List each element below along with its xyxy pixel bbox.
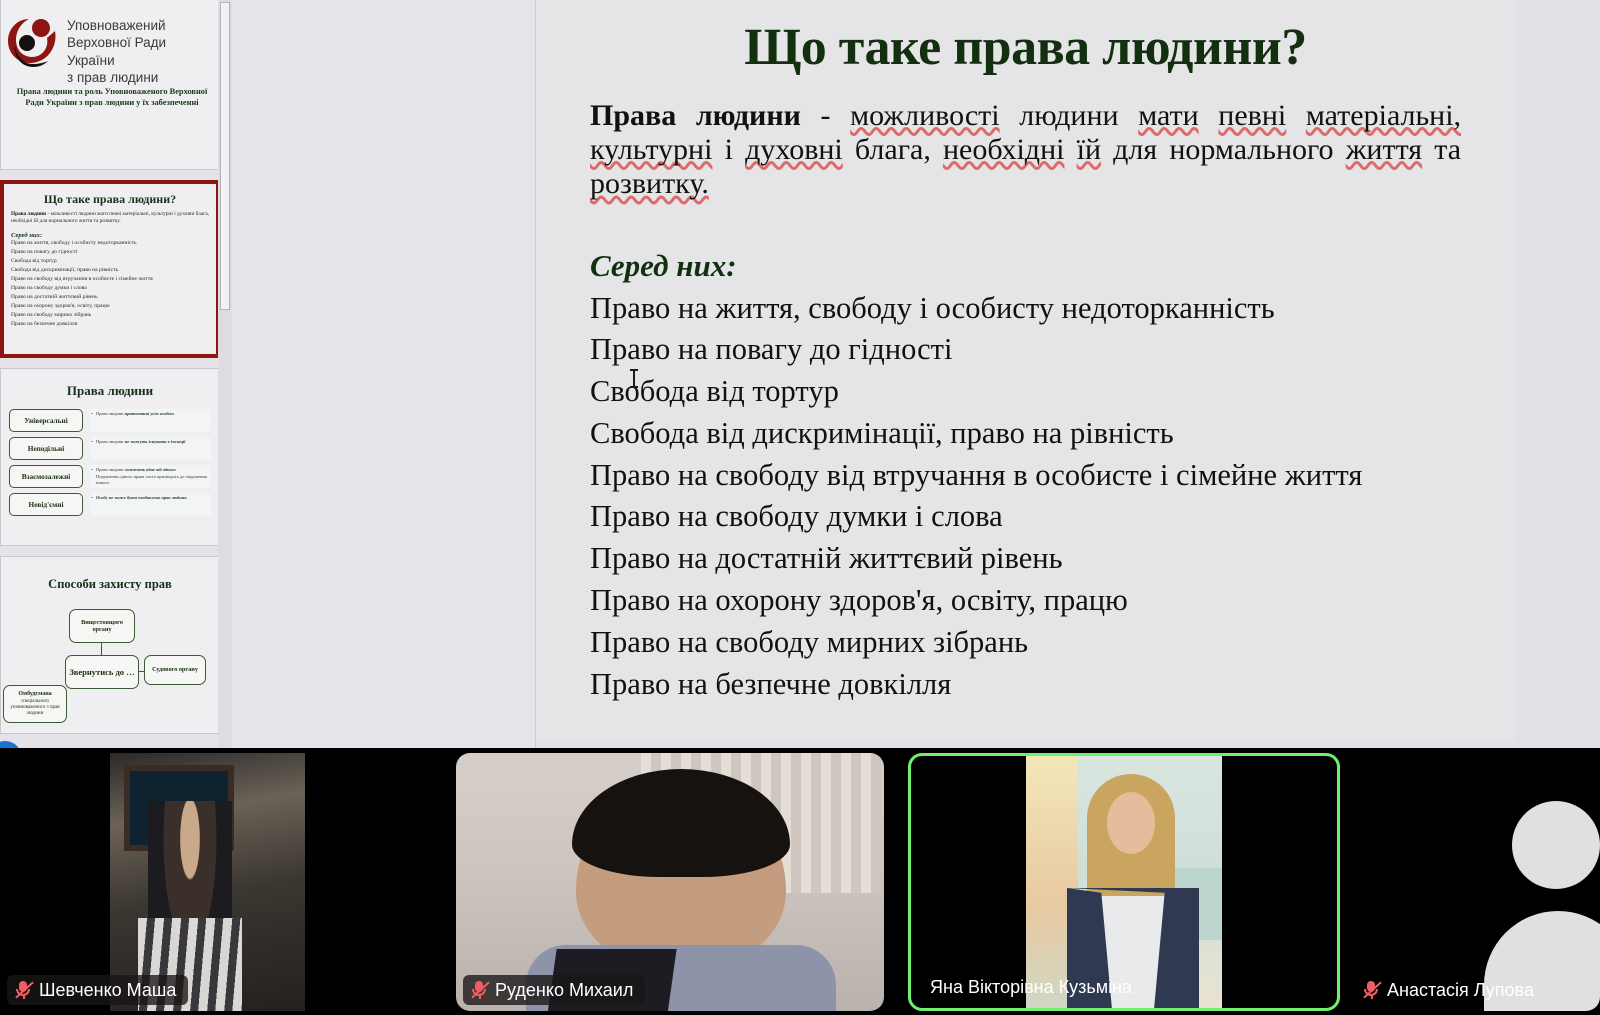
row-note: Особу не може бути позбавлено прав людин…: [90, 493, 211, 516]
participant-name-badge: Яна Вікторівна Кузьміна: [918, 972, 1144, 1002]
chip-label: Універсальні: [9, 409, 83, 432]
paragraph-word: певні: [1218, 99, 1286, 132]
list-item: Право на безпечне довкілля: [11, 320, 209, 329]
paragraph-word: життя: [1346, 133, 1422, 166]
participant-video: [0, 753, 452, 1011]
thumbnail-2-list: Право на життя, свободу і особисту недот…: [11, 239, 209, 329]
thumbnail-scrollbar-track[interactable]: [218, 0, 232, 748]
participant-name: Руденко Михаил: [495, 980, 633, 1001]
paragraph-dash: -: [821, 99, 831, 132]
thumbnail-2-paragraph-lead: Права людини: [11, 211, 46, 217]
participant-name: Анастасія Лупова: [1387, 980, 1534, 1001]
microphone-muted-icon: [471, 980, 488, 1000]
participant-tile[interactable]: Анастасія Лупова: [1344, 753, 1600, 1011]
list-item: Право на свободу мирних зібрань: [11, 311, 209, 320]
video-participant-strip: Шевченко Маша Руденко Михаил Ян: [0, 748, 1600, 1015]
list-item: Право на свободу думки і слова: [11, 284, 209, 293]
paragraph-word: блага,: [855, 133, 931, 166]
microphone-muted-icon: [15, 980, 32, 1000]
list-item: Право на охорону здоров'я, освіту, працю: [11, 302, 209, 311]
thumbnail-1-logo-text: Уповноважений Верховної Ради України з п…: [67, 17, 217, 86]
participant-tile[interactable]: Шевченко Маша: [0, 753, 452, 1011]
list-item: Свобода від дискримінації, право на рівн…: [590, 413, 1515, 455]
participant-video: [911, 756, 1337, 1008]
list-item: Право на свободу від втручання в особист…: [590, 455, 1515, 497]
participant-avatar: [1344, 753, 1600, 1011]
thumbnail-1-subtitle: Права людини та роль Уповноваженого Верх…: [13, 86, 211, 109]
list-item: Свобода від тортур: [11, 257, 209, 266]
participant-name: Шевченко Маша: [39, 980, 176, 1001]
paragraph-word: можливості: [850, 99, 999, 132]
slide-thumbnail-1[interactable]: Уповноважений Верховної Ради України з п…: [0, 0, 220, 170]
participant-tile[interactable]: Руденко Михаил: [456, 753, 884, 1011]
participant-name-badge: Руденко Михаил: [463, 975, 645, 1005]
flow-node-center: Звернутись до …: [65, 655, 139, 689]
paragraph-word: мати: [1138, 99, 1198, 132]
participant-name-badge: Шевченко Маша: [7, 975, 188, 1005]
table-row: Неподільні Права людини не можуть існува…: [9, 437, 211, 460]
paragraph-word: людини: [1019, 99, 1118, 132]
presentation-area: Уповноважений Верховної Ради України з п…: [0, 0, 1600, 748]
row-note: Права людини залежать одне від одногоПор…: [90, 465, 211, 488]
paragraph-word: для: [1113, 133, 1157, 166]
list-item: Право на повагу до гідності: [11, 248, 209, 257]
flow-node-top: Вищестоящого органу: [69, 609, 135, 643]
ombudsman-logo-icon: [7, 11, 61, 73]
slide-thumbnail-3[interactable]: Права людини Універсальні Права людини п…: [0, 368, 220, 546]
text-cursor-icon: [633, 369, 635, 388]
paragraph-word: нормального: [1169, 133, 1333, 166]
screen-root: Уповноважений Верховної Ради України з п…: [0, 0, 1600, 1015]
list-item: Право на свободу думки і слова: [590, 496, 1515, 538]
list-item: Право на свободу від втручання в особист…: [11, 275, 209, 284]
chip-label: Неподільні: [9, 437, 83, 460]
list-item: Право на повагу до гідності: [590, 329, 1515, 371]
table-row: Універсальні Права людини притаманні усі…: [9, 409, 211, 432]
table-row: Взаємозалежні Права людини залежать одне…: [9, 465, 211, 488]
connector-line: [101, 643, 102, 655]
thumbnail-scrollbar-thumb[interactable]: [220, 2, 230, 310]
paragraph-word: необхідні: [943, 133, 1064, 166]
list-item: Свобода від тортур: [590, 371, 1515, 413]
list-item: Право на безпечне довкілля: [590, 664, 1515, 706]
list-item: Свобода від дискримінації, право на рівн…: [11, 266, 209, 275]
paragraph-word: духовні: [745, 133, 843, 166]
chip-label: Невід'ємні: [9, 493, 83, 516]
slide-among-label: Серед них:: [590, 248, 1515, 284]
chip-label: Взаємозалежні: [9, 465, 83, 488]
participant-video: [456, 753, 884, 1011]
thumbnail-2-paragraph: Права людини - можливості людини мати пе…: [11, 211, 209, 226]
flow-node-left: Омбудсмана спеціального уповноваженого з…: [3, 685, 67, 723]
list-item: Право на достатній життєвий рівень: [11, 293, 209, 302]
participant-tile-active-speaker[interactable]: Яна Вікторівна Кузьміна: [908, 753, 1340, 1011]
slide-thumbnail-4[interactable]: Способи захисту прав Вищестоящого органу…: [0, 556, 220, 734]
slide-title: Що таке права людини?: [536, 18, 1515, 77]
list-item: Право на свободу мирних зібрань: [590, 622, 1515, 664]
slide-rights-list: Право на життя, свободу і особисту недот…: [590, 288, 1515, 706]
paragraph-word: матеріальні,: [1306, 99, 1461, 132]
thumbnail-2-among-label: Серед них:: [11, 232, 209, 239]
thumbnail-4-title: Способи захисту прав: [9, 577, 211, 592]
microphone-muted-icon: [1363, 980, 1380, 1000]
row-note: Права людини не можуть існувати в ізоляц…: [90, 437, 211, 460]
presentation-right-margin: [1515, 0, 1600, 748]
participant-name: Яна Вікторівна Кузьміна: [930, 977, 1132, 998]
slide-thumbnail-2[interactable]: Що таке права людини? Права людини - мож…: [0, 180, 220, 358]
row-note: Права людини притаманні усім особам: [90, 409, 211, 432]
slide-paragraph: Права людини - можливості людини мати пе…: [590, 99, 1461, 202]
paragraph-lead: Права людини: [590, 99, 801, 132]
presentation-left-margin: [232, 0, 536, 748]
participant-name-badge: Анастасія Лупова: [1351, 975, 1546, 1005]
paragraph-word: і: [725, 133, 733, 166]
paragraph-word: та: [1434, 133, 1461, 166]
paragraph-word: розвитку.: [590, 167, 709, 200]
slide-thumbnail-panel[interactable]: Уповноважений Верховної Ради України з п…: [0, 0, 232, 748]
table-row: Невід'ємні Особу не може бути позбавлено…: [9, 493, 211, 516]
list-item: Право на достатній життєвий рівень: [590, 538, 1515, 580]
thumbnail-3-title: Права людини: [9, 383, 211, 399]
list-item: Право на життя, свободу і особисту недот…: [11, 239, 209, 248]
thumbnail-2-title: Що таке права людини?: [11, 192, 209, 207]
paragraph-word: культурні: [590, 133, 712, 166]
flow-node-right: Судового органу: [144, 655, 206, 685]
main-slide: Що таке права людини? Права людини - мож…: [536, 0, 1515, 741]
paragraph-word: їй: [1077, 133, 1101, 166]
avatar: [1512, 801, 1600, 889]
list-item: Право на охорону здоров'я, освіту, працю: [590, 580, 1515, 622]
list-item: Право на життя, свободу і особисту недот…: [590, 288, 1515, 330]
